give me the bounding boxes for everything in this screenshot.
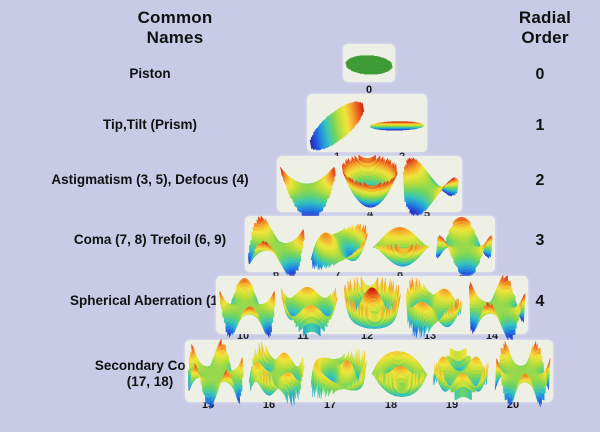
zernike-surface-18 bbox=[369, 340, 430, 402]
radial-order-header: Radial Order bbox=[500, 8, 590, 48]
surface-plot-icon-pentafoil-b bbox=[492, 340, 553, 402]
zernike-surface-0 bbox=[343, 44, 395, 82]
surface-plot-icon-tilt-right bbox=[367, 94, 427, 152]
zernike-surface-8 bbox=[370, 216, 433, 272]
common-name-label-order-0: Piston bbox=[0, 66, 300, 82]
surface-plot-icon-astig2-b bbox=[403, 276, 465, 334]
radial-order-value-2: 2 bbox=[520, 172, 560, 190]
surface-plot-icon-sec-coma-b bbox=[369, 340, 430, 402]
zernike-surface-5 bbox=[400, 156, 462, 212]
surface-plot-icon-sec-coma-a bbox=[308, 340, 369, 402]
zernike-surface-17 bbox=[308, 340, 369, 402]
zernike-surface-2 bbox=[367, 94, 427, 152]
surface-plot-icon-coma-b bbox=[370, 216, 433, 272]
common-names-header-line1: Common bbox=[80, 8, 270, 28]
surface-plot-icon-quadrafoil-a bbox=[216, 276, 278, 334]
surface-plot-icon-coma-a bbox=[308, 216, 371, 272]
row-panel-order-1 bbox=[307, 94, 427, 152]
surface-plot-icon-sec-trefoil-a bbox=[246, 340, 307, 402]
common-name-line: Tip,Tilt (Prism) bbox=[0, 117, 300, 133]
common-names-header-line2: Names bbox=[80, 28, 270, 48]
radial-order-value-0: 0 bbox=[520, 66, 560, 84]
row-panel-order-0 bbox=[343, 44, 395, 82]
zernike-surface-9 bbox=[433, 216, 496, 272]
surface-plot-icon-saddle-b bbox=[400, 156, 462, 212]
zernike-surface-1 bbox=[307, 94, 367, 152]
row-panel-order-5 bbox=[185, 340, 553, 402]
surface-plot-icon-sec-trefoil-b bbox=[430, 340, 491, 402]
surface-plot-icon-saddle-a bbox=[277, 156, 339, 212]
zernike-surface-4 bbox=[339, 156, 401, 212]
common-name-label-order-1: Tip,Tilt (Prism) bbox=[0, 117, 300, 133]
surface-plot-icon-spherical bbox=[341, 276, 403, 334]
surface-plot-icon-tilt-left bbox=[307, 94, 367, 152]
surface-plot-icon-trefoil-a bbox=[245, 216, 308, 272]
surface-plot-icon-piston bbox=[343, 44, 395, 82]
zernike-surface-12 bbox=[341, 276, 403, 334]
row-panel-order-2 bbox=[277, 156, 462, 212]
zernike-surface-16 bbox=[246, 340, 307, 402]
zernike-surface-7 bbox=[308, 216, 371, 272]
zernike-surface-20 bbox=[492, 340, 553, 402]
zernike-surface-15 bbox=[185, 340, 246, 402]
surface-plot-icon-defocus-bowl bbox=[339, 156, 401, 212]
zernike-surface-3 bbox=[277, 156, 339, 212]
surface-plot-icon-pentafoil-a bbox=[185, 340, 246, 402]
zernike-surface-11 bbox=[278, 276, 340, 334]
common-name-line: Piston bbox=[0, 66, 300, 82]
common-name-line: Astigmatism (3, 5), Defocus (4) bbox=[0, 172, 300, 188]
radial-order-value-3: 3 bbox=[520, 232, 560, 250]
zernike-surface-19 bbox=[430, 340, 491, 402]
radial-order-header-line1: Radial bbox=[500, 8, 590, 28]
zernike-pyramid-figure: Common Names Radial Order Piston00Tip,Ti… bbox=[0, 0, 600, 432]
zernike-surface-6 bbox=[245, 216, 308, 272]
row-panel-order-3 bbox=[245, 216, 495, 272]
common-name-label-order-2: Astigmatism (3, 5), Defocus (4) bbox=[0, 172, 300, 188]
zernike-surface-13 bbox=[403, 276, 465, 334]
radial-order-value-1: 1 bbox=[520, 117, 560, 135]
surface-plot-icon-quadrafoil-b bbox=[466, 276, 528, 334]
row-panel-order-4 bbox=[216, 276, 528, 334]
radial-order-header-line2: Order bbox=[500, 28, 590, 48]
zernike-surface-10 bbox=[216, 276, 278, 334]
zernike-surface-14 bbox=[466, 276, 528, 334]
surface-plot-icon-trefoil-b bbox=[433, 216, 496, 272]
surface-plot-icon-astig2-a bbox=[278, 276, 340, 334]
common-names-header: Common Names bbox=[80, 8, 270, 48]
